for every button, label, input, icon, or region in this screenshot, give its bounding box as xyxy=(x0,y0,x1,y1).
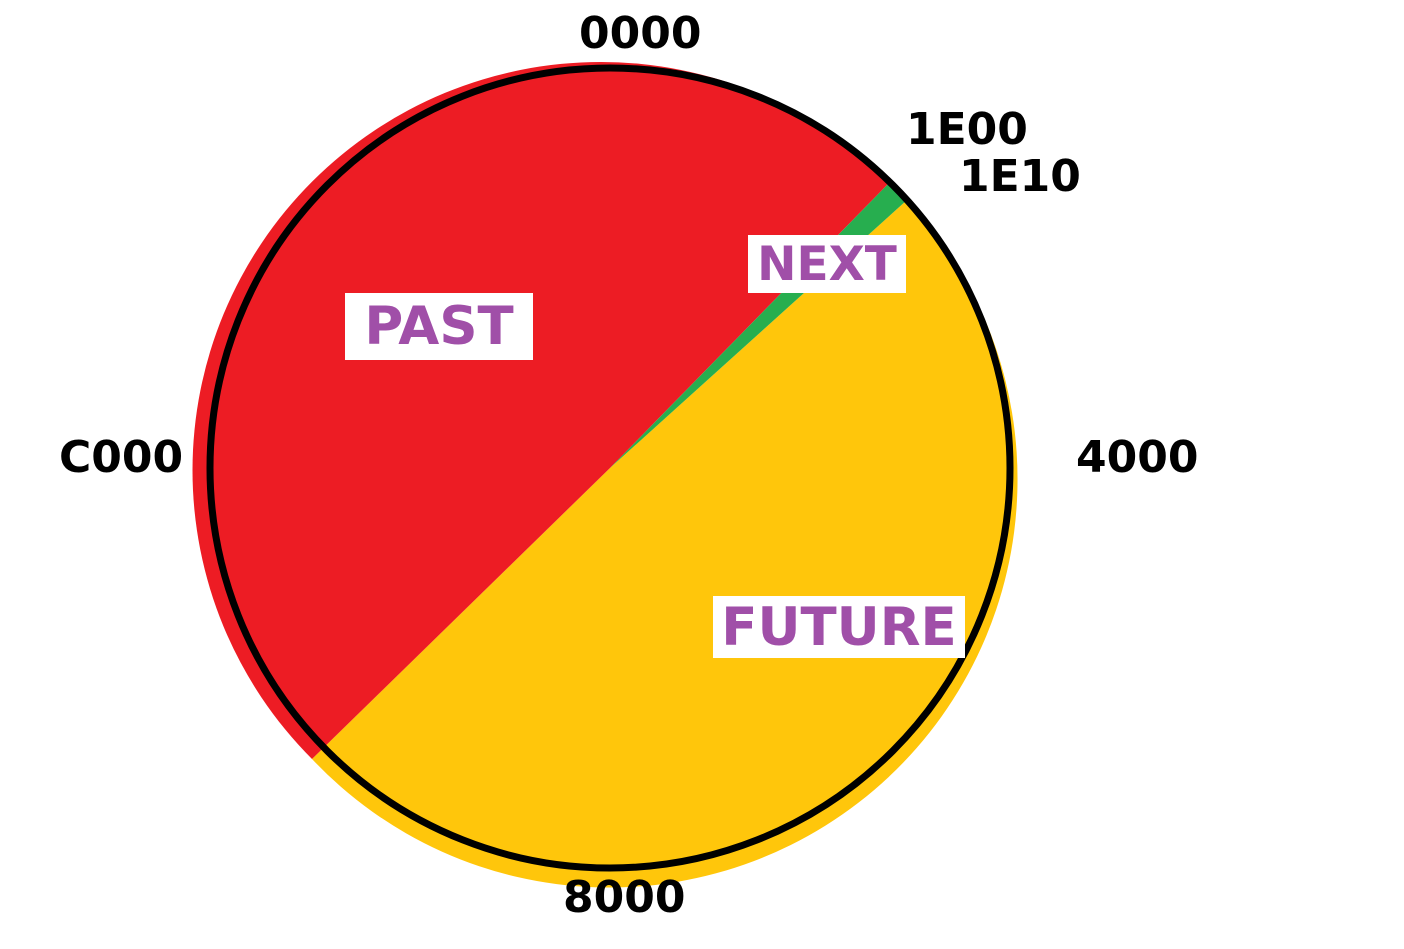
rim-label-C000: C000 xyxy=(59,436,183,480)
rim-label-1E10: 1E10 xyxy=(959,155,1081,199)
rim-label-0000: 0000 xyxy=(579,12,701,56)
rim-label-1E00: 1E00 xyxy=(906,108,1028,152)
sequence-number-wheel-diagram: 0000 1E00 1E10 4000 8000 C000 PAST NEXT … xyxy=(0,0,1404,949)
sector-label-past: PAST xyxy=(345,293,533,360)
sector-label-future: FUTURE xyxy=(713,596,965,658)
rim-label-8000: 8000 xyxy=(563,876,685,920)
sector-label-next: NEXT xyxy=(748,235,906,293)
rim-label-4000: 4000 xyxy=(1076,436,1198,480)
